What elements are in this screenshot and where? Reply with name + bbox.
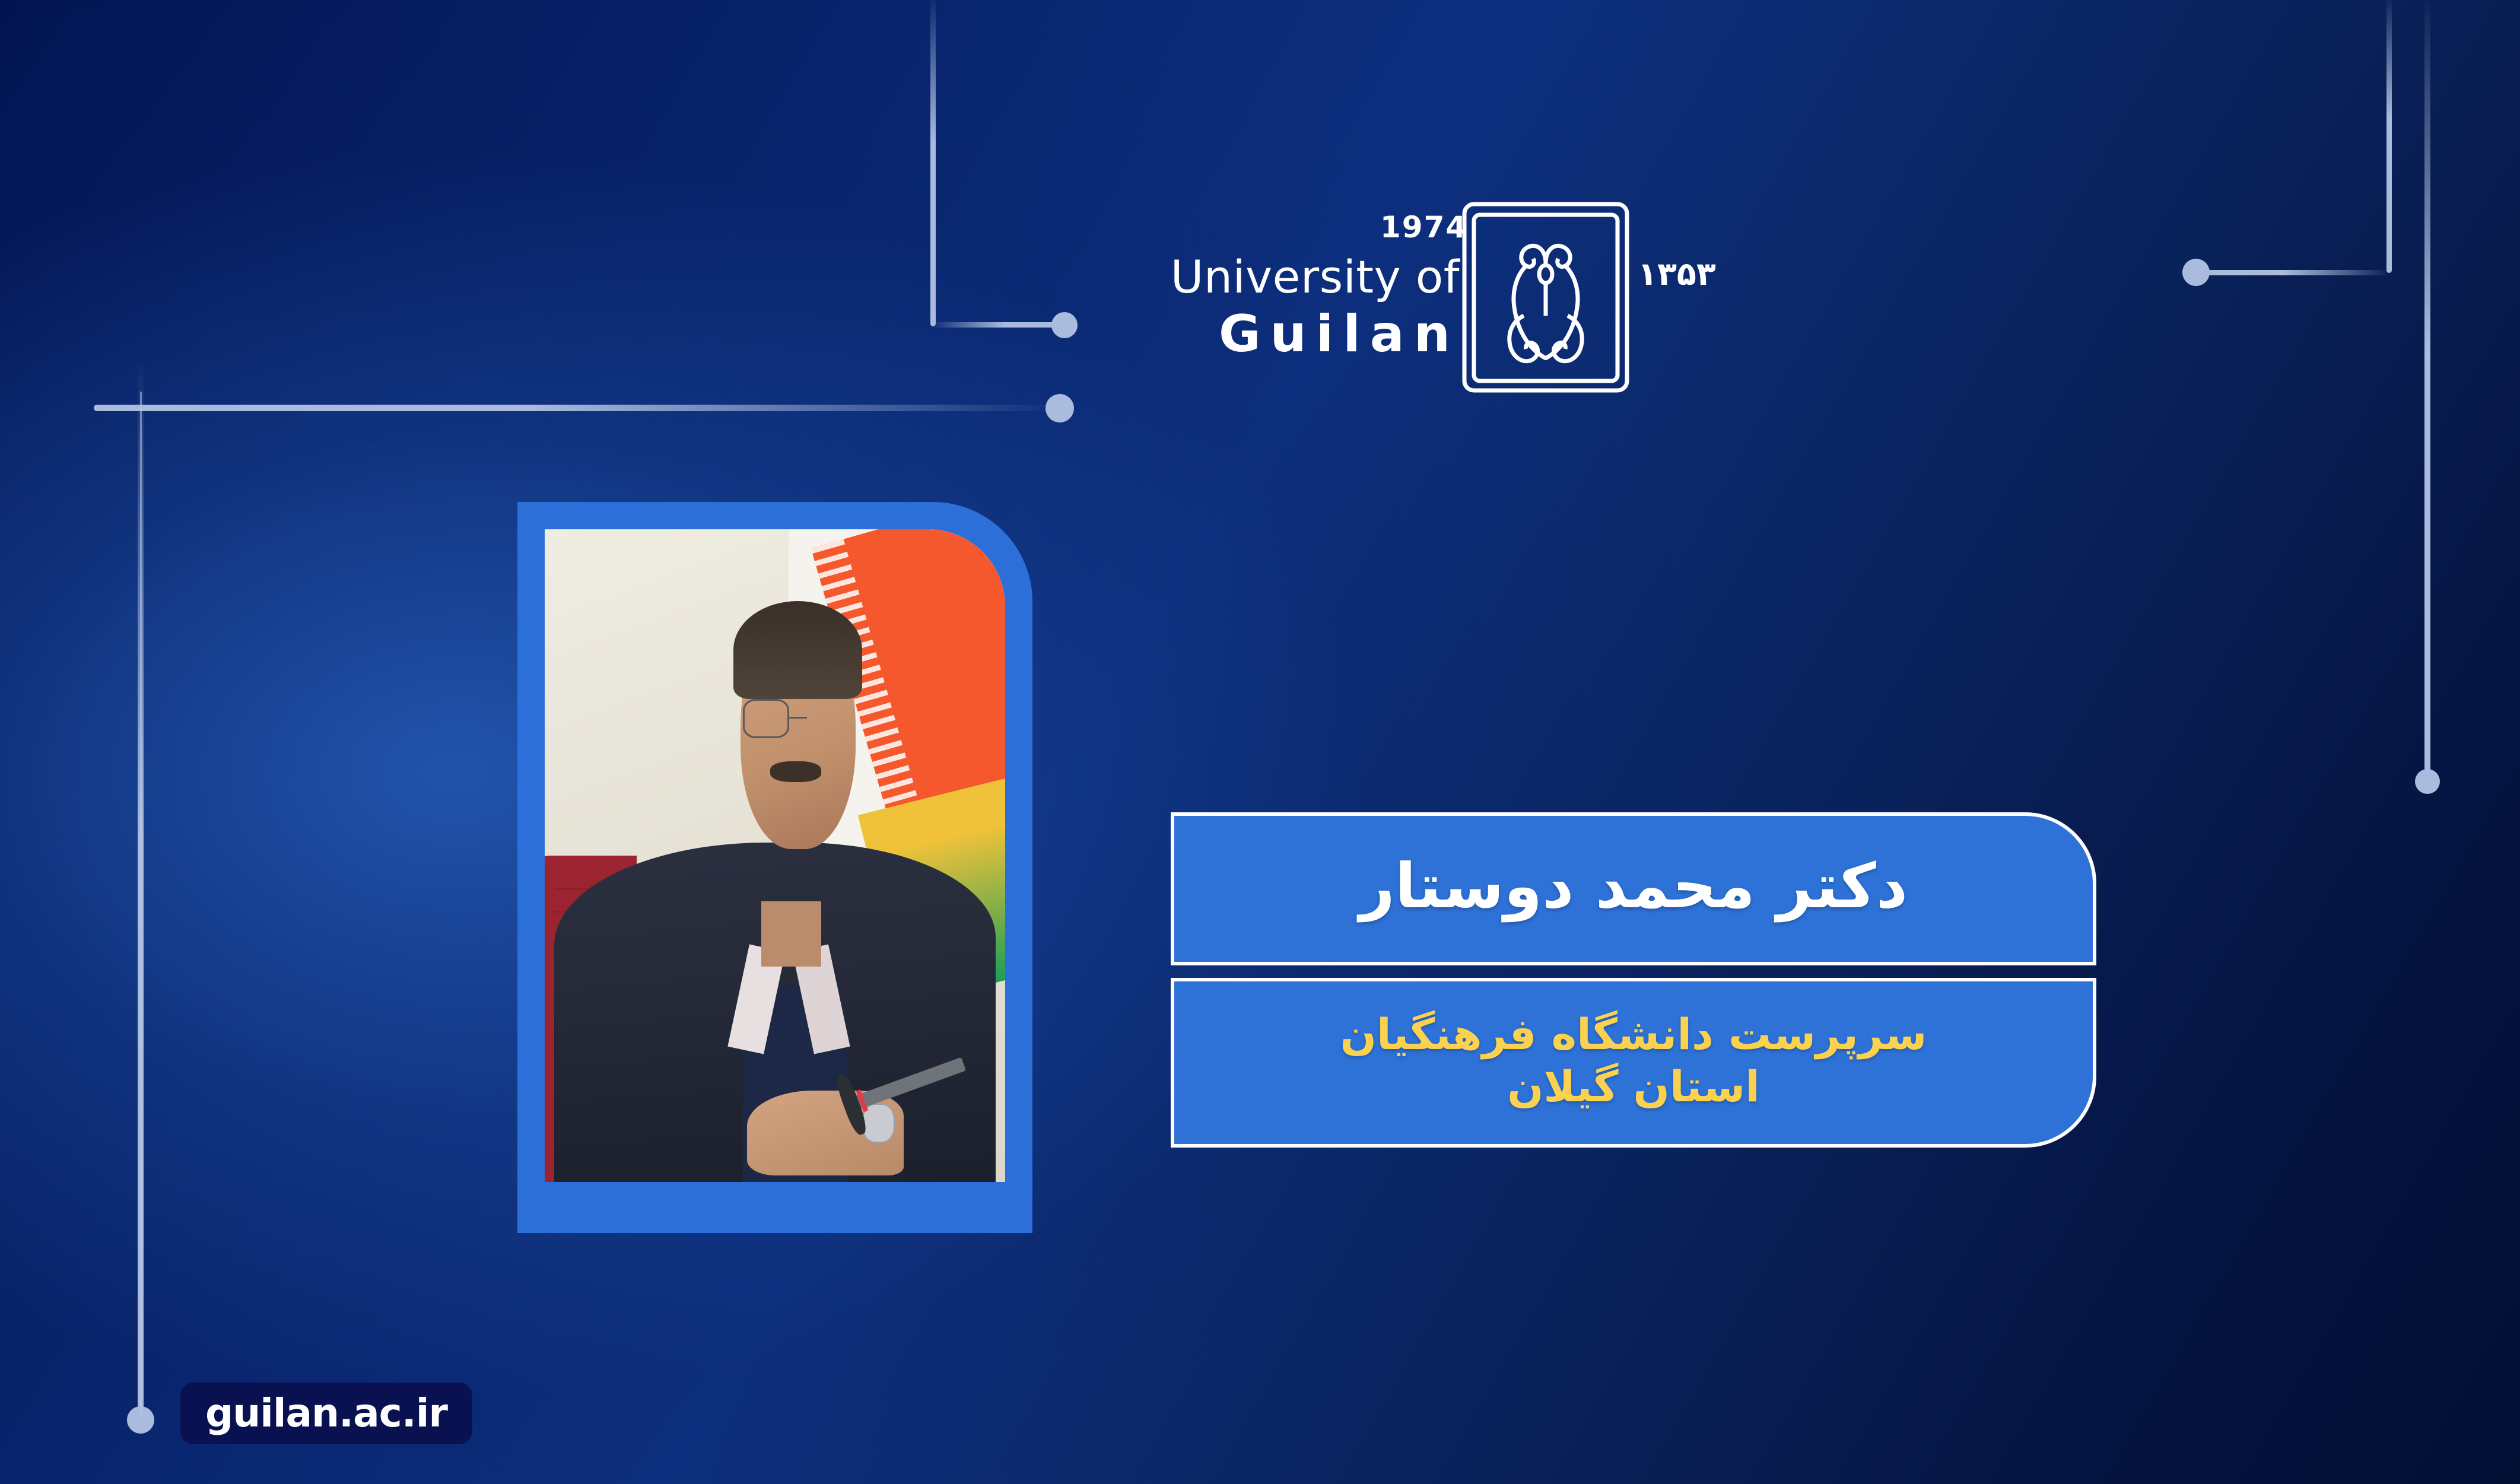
photo-eyeglasses (743, 699, 853, 738)
deco-dot-left-horizontal (1046, 394, 1074, 422)
photo-hair (733, 601, 862, 699)
deco-dot-right-horizontal (2182, 259, 2210, 286)
deco-line-right-horizontal (2195, 270, 2391, 275)
photo-moustache (770, 761, 821, 782)
person-title-line1: سرپرست دانشگاه فرهنگیان (1340, 1009, 1927, 1061)
person-title-line2: استان گیلان (1507, 1061, 1760, 1113)
deco-line-top-vertical (930, 0, 936, 326)
deco-hairline-vertical-left (140, 392, 142, 1418)
person-name: دکتر محمد دوستار (1359, 855, 1908, 923)
portrait-frame (517, 502, 1032, 1233)
deco-line-right-vertical-long (2424, 0, 2430, 777)
deco-line-top-horizontal (930, 322, 1066, 328)
deco-dot-top (1051, 312, 1078, 338)
logo-english-line1: University of (1163, 254, 1460, 300)
deco-line-right-vertical-short (2386, 0, 2392, 273)
logo-year-gregorian: 1974 (1380, 210, 1467, 244)
university-logo: University of Guilan 1974 ۱۳۵۳ دان (1163, 184, 2089, 433)
deco-line-left-horizontal (94, 405, 1061, 411)
website-url-badge[interactable]: guilan.ac.ir (180, 1383, 472, 1444)
poster-canvas: University of Guilan 1974 ۱۳۵۳ دان (0, 0, 2520, 1484)
logo-persian-name: دانشگاه گیلان (1685, 201, 2077, 402)
logo-english-line2: Guilan (1177, 309, 1460, 361)
person-name-plate: دکتر محمد دوستار (1171, 812, 2096, 965)
logo-english-text: University of Guilan (1163, 254, 1460, 360)
portrait-photo (545, 529, 1005, 1182)
person-title-plate: سرپرست دانشگاه فرهنگیان استان گیلان (1171, 978, 2096, 1148)
svg-text:دانشگاه گیلان: دانشگاه گیلان (2071, 258, 2077, 361)
website-url-text: guilan.ac.ir (205, 1394, 447, 1433)
deco-dot-right-bottom (2415, 769, 2440, 794)
guilan-emblem-icon (1460, 199, 1632, 395)
photo-neck (761, 901, 821, 967)
